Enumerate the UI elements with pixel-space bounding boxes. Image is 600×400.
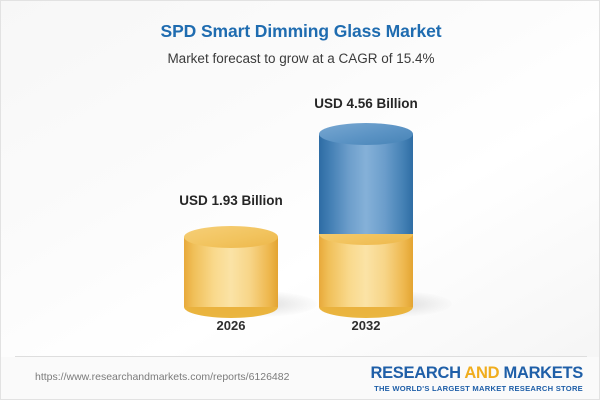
bar-value-label-2032: USD 4.56 Billion	[266, 96, 466, 111]
logo-and-text: AND	[464, 364, 499, 382]
logo-research-text: RESEARCH	[370, 364, 464, 382]
cylinder-2026[interactable]	[184, 226, 278, 318]
footer-divider	[15, 356, 587, 357]
logo-wordmark: RESEARCH AND MARKETS	[370, 364, 583, 383]
cylinder-2032[interactable]	[319, 123, 413, 318]
chart-card: SPD Smart Dimming Glass Market Market fo…	[0, 0, 600, 400]
research-and-markets-logo[interactable]: RESEARCH AND MARKETS THE WORLD'S LARGEST…	[370, 364, 583, 393]
bar-value-label-2026: USD 1.93 Billion	[131, 193, 331, 208]
cylinder-segment-growth-2032	[319, 134, 413, 234]
logo-markets-text: MARKETS	[499, 364, 583, 382]
logo-tagline: THE WORLD'S LARGEST MARKET RESEARCH STOR…	[370, 384, 583, 393]
cylinder-top-cap-2026	[184, 226, 278, 248]
footer: https://www.researchandmarkets.com/repor…	[1, 357, 600, 400]
cylinder-top-cap-2032	[319, 123, 413, 145]
category-label-2032: 2032	[266, 318, 466, 333]
plot-area: USD 1.93 Billion 2026 USD 4.56 Billion	[1, 1, 600, 356]
source-url[interactable]: https://www.researchandmarkets.com/repor…	[35, 371, 289, 383]
